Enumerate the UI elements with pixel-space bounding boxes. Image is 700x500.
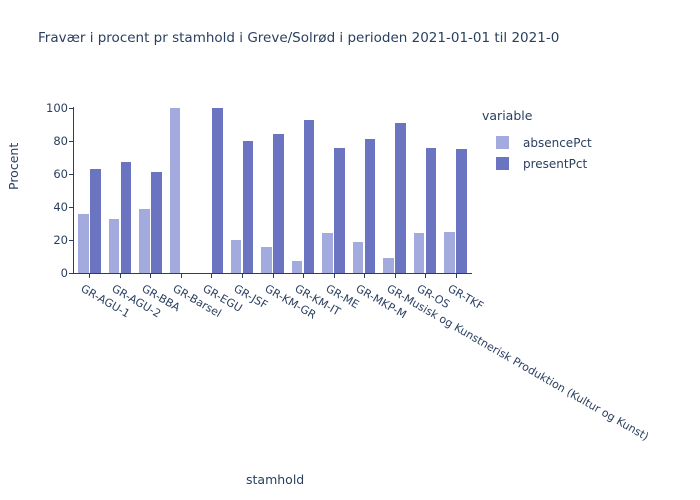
y-tick-label: 40: [28, 200, 68, 214]
x-tick-label: GR-TKF: [445, 282, 485, 313]
x-tick-mark: [425, 273, 426, 278]
y-tick-label: 100: [28, 101, 68, 115]
legend-label-presentPct: presentPct: [523, 157, 587, 171]
bar-presentPct[interactable]: [90, 169, 101, 273]
x-tick-mark: [456, 273, 457, 278]
bar-absencePct[interactable]: [231, 240, 242, 273]
legend-swatch-absencePct: [496, 136, 509, 149]
x-tick-mark: [334, 273, 335, 278]
x-tick-mark: [120, 273, 121, 278]
bar-absencePct[interactable]: [353, 242, 364, 273]
bar-presentPct[interactable]: [304, 120, 315, 273]
x-tick-label: GR-Musisk og Kunstnerisk Produktion (Kul…: [384, 282, 650, 443]
bar-presentPct[interactable]: [121, 162, 132, 273]
y-tick-label: 80: [28, 134, 68, 148]
x-tick-mark: [150, 273, 151, 278]
legend-title: variable: [482, 108, 592, 123]
bar-absencePct[interactable]: [109, 219, 120, 273]
y-tick-label: 60: [28, 167, 68, 181]
bar-absencePct[interactable]: [444, 232, 455, 273]
legend: variable absencePct presentPct: [482, 108, 592, 174]
bar-presentPct[interactable]: [456, 149, 467, 273]
x-tick-mark: [364, 273, 365, 278]
legend-item-absencePct[interactable]: absencePct: [482, 132, 592, 153]
bar-absencePct[interactable]: [139, 209, 150, 273]
bar-presentPct[interactable]: [243, 141, 254, 273]
bar-absencePct[interactable]: [78, 214, 89, 273]
bar-presentPct[interactable]: [334, 148, 345, 273]
x-tick-mark: [303, 273, 304, 278]
y-tick-label: 0: [28, 266, 68, 280]
bar-presentPct[interactable]: [212, 108, 223, 273]
bar-presentPct[interactable]: [273, 134, 284, 273]
chart-container: Fravær i procent pr stamhold i Greve/Sol…: [0, 0, 700, 500]
bar-absencePct[interactable]: [414, 233, 425, 273]
x-tick-mark: [181, 273, 182, 278]
legend-swatch-presentPct: [496, 157, 509, 170]
plot-area: [74, 108, 471, 273]
x-tick-mark: [395, 273, 396, 278]
chart-title: Fravær i procent pr stamhold i Greve/Sol…: [38, 30, 559, 46]
y-tick-mark: [69, 273, 74, 274]
bar-absencePct[interactable]: [292, 261, 303, 273]
bar-presentPct[interactable]: [426, 148, 437, 273]
bar-presentPct[interactable]: [365, 139, 376, 273]
bar-absencePct[interactable]: [322, 233, 333, 273]
bar-absencePct[interactable]: [261, 247, 272, 273]
x-tick-mark: [89, 273, 90, 278]
bar-absencePct[interactable]: [383, 258, 394, 273]
x-tick-mark: [242, 273, 243, 278]
bar-presentPct[interactable]: [395, 123, 406, 273]
bar-presentPct[interactable]: [151, 172, 162, 273]
bar-absencePct[interactable]: [170, 108, 181, 273]
legend-label-absencePct: absencePct: [523, 136, 592, 150]
x-tick-mark: [211, 273, 212, 278]
y-axis-title: Procent: [6, 143, 21, 190]
y-tick-label: 20: [28, 233, 68, 247]
legend-item-presentPct[interactable]: presentPct: [482, 153, 592, 174]
x-axis-title: stamhold: [246, 472, 304, 487]
x-tick-mark: [273, 273, 274, 278]
